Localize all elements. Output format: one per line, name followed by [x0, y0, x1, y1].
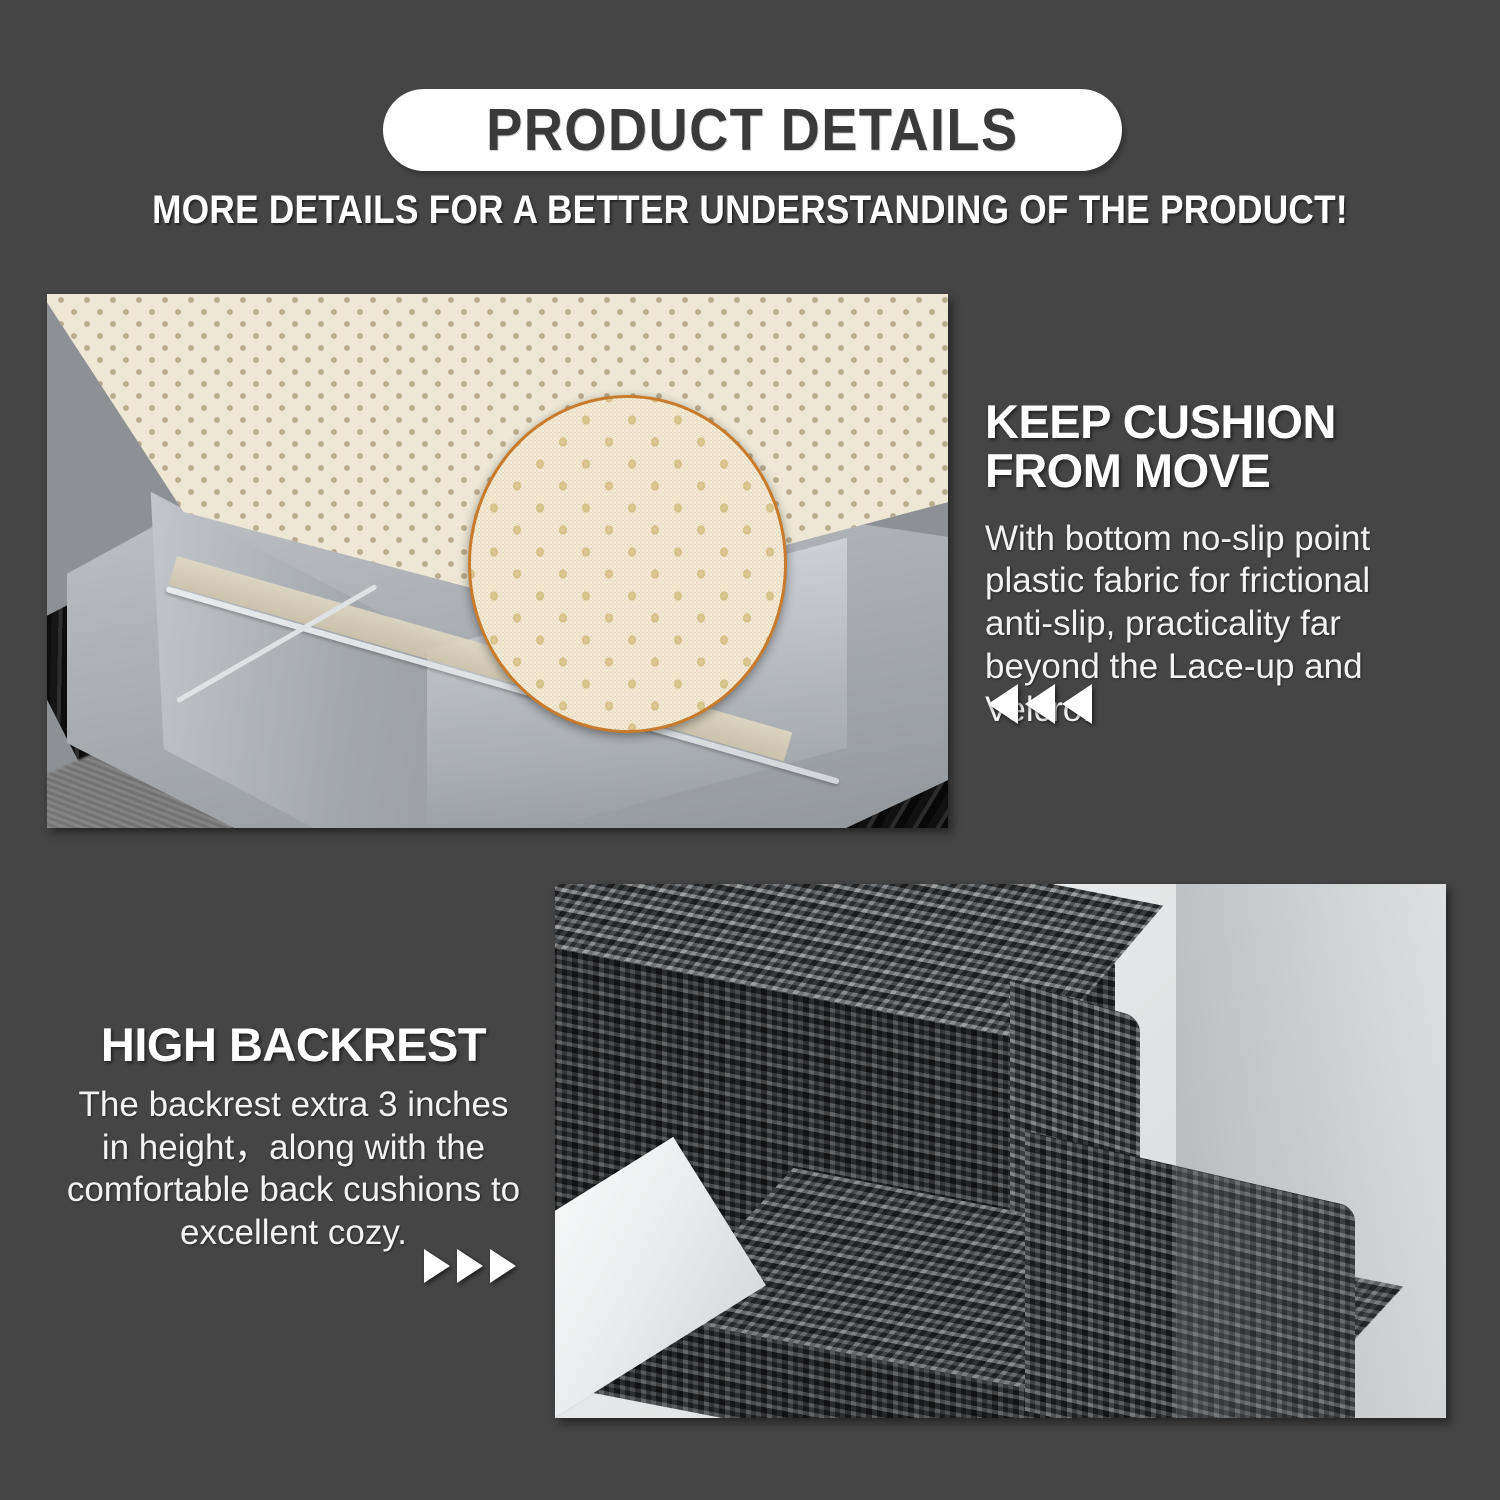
- triangle-left-icon: [1025, 684, 1055, 724]
- page-title-pill: PRODUCT DETAILS: [383, 89, 1122, 171]
- callout-heading-keep-cushion: KEEP CUSHION FROM MOVE: [985, 398, 1440, 496]
- backrest-detail-photo: [555, 884, 1446, 1418]
- magnifier-circle-icon: [468, 395, 787, 733]
- arrow-group-right: [424, 1249, 516, 1283]
- callout-body-high-backrest: The backrest extra 3 inches in height，al…: [62, 1084, 525, 1255]
- callout-high-backrest: HIGH BACKREST The backrest extra 3 inche…: [62, 1021, 525, 1255]
- triangle-left-icon: [988, 684, 1018, 724]
- callout-keep-cushion-from-move: KEEP CUSHION FROM MOVE With bottom no-sl…: [985, 398, 1440, 731]
- callout-heading-high-backrest: HIGH BACKREST: [62, 1021, 525, 1070]
- page-subtitle: MORE DETAILS FOR A BETTER UNDERSTANDING …: [90, 188, 1410, 233]
- header: PRODUCT DETAILS MORE DETAILS FOR A BETTE…: [0, 0, 1500, 270]
- triangle-right-icon: [457, 1249, 483, 1283]
- triangle-left-icon: [1062, 684, 1092, 724]
- triangle-right-icon: [490, 1249, 516, 1283]
- triangle-right-icon: [424, 1249, 450, 1283]
- armrest-rattan-face: [1025, 1131, 1355, 1418]
- page-title: PRODUCT DETAILS: [486, 101, 1018, 160]
- arrow-group-left: [988, 684, 1092, 724]
- cushion-detail-photo: [47, 294, 948, 828]
